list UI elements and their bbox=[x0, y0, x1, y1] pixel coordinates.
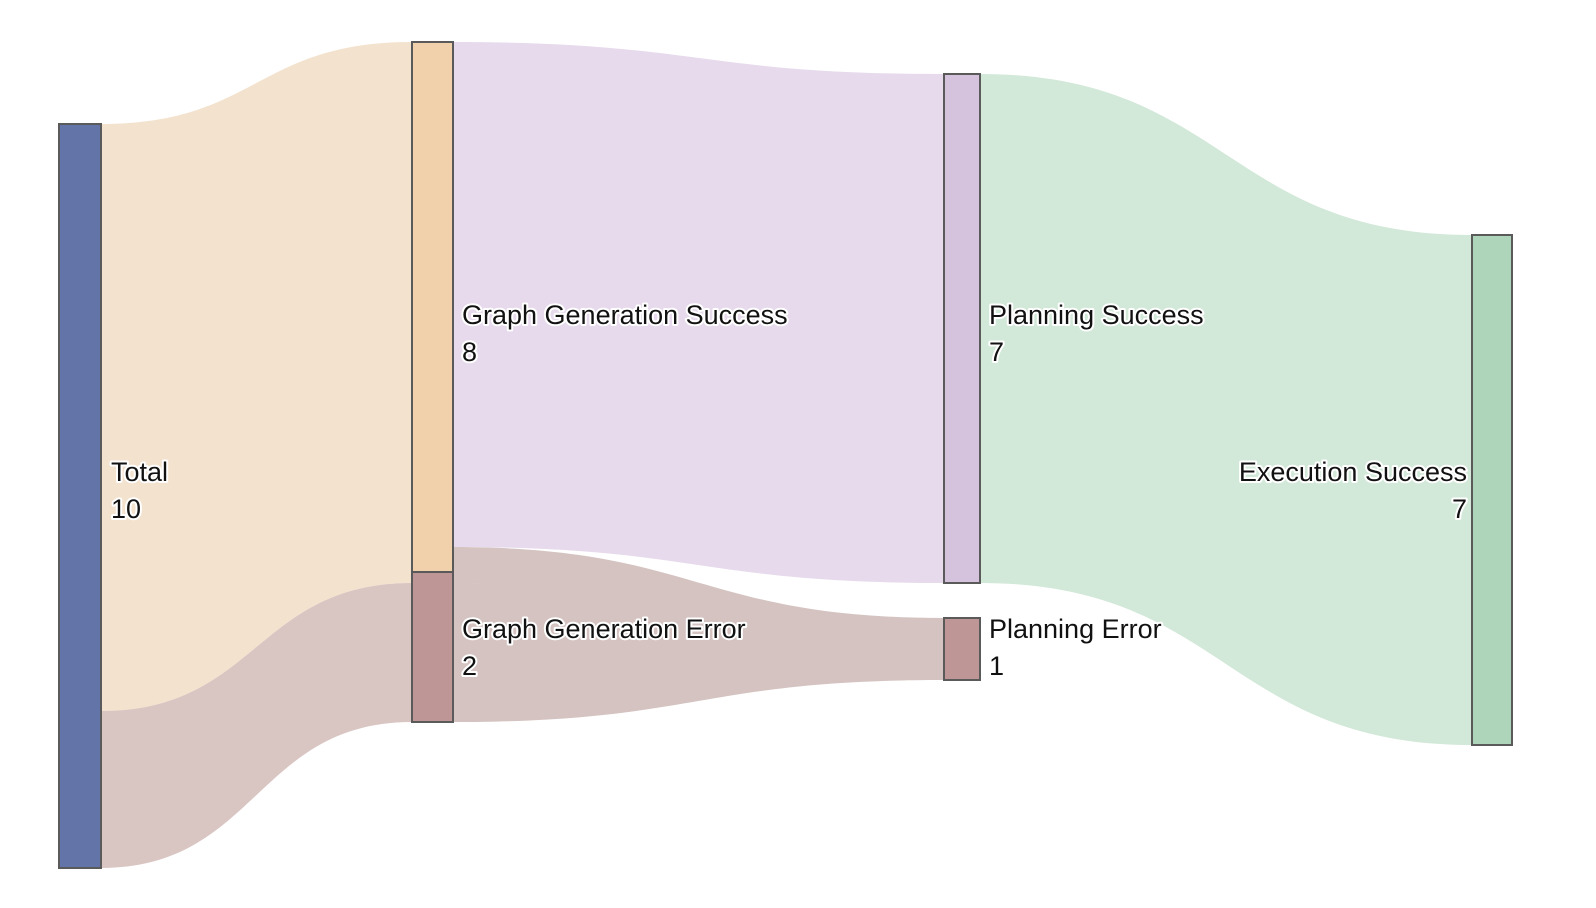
node-label-plan_error: Planning Error bbox=[989, 614, 1162, 644]
node-value-gg_error: 2 bbox=[462, 651, 477, 681]
node-value-exec_success: 7 bbox=[1452, 494, 1467, 524]
node-label-gg_success: Graph Generation Success bbox=[462, 300, 788, 330]
node-value-plan_error: 1 bbox=[989, 651, 1004, 681]
node-value-gg_success: 8 bbox=[462, 337, 477, 367]
links-layer bbox=[101, 42, 1472, 868]
node-label-total: Total bbox=[111, 457, 168, 487]
sankey-node-total[interactable] bbox=[59, 124, 101, 868]
sankey-canvas: Total10Graph Generation Success8Graph Ge… bbox=[0, 0, 1596, 908]
node-value-total: 10 bbox=[111, 494, 141, 524]
sankey-link-plan-success-to-exec-success[interactable] bbox=[980, 74, 1472, 745]
sankey-link-gg-error-to-plan-error[interactable] bbox=[453, 583, 944, 722]
sankey-node-plan_error[interactable] bbox=[944, 618, 980, 680]
sankey-node-plan_success[interactable] bbox=[944, 74, 980, 583]
node-label-plan_success: Planning Success bbox=[989, 300, 1204, 330]
node-value-plan_success: 7 bbox=[989, 337, 1004, 367]
node-label-gg_error: Graph Generation Error bbox=[462, 614, 746, 644]
node-label-exec_success: Execution Success bbox=[1239, 457, 1467, 487]
sankey-node-exec_success[interactable] bbox=[1472, 235, 1512, 745]
sankey-diagram: Total10Graph Generation Success8Graph Ge… bbox=[0, 0, 1596, 908]
sankey-node-gg_error[interactable] bbox=[412, 572, 453, 722]
sankey-node-gg_success[interactable] bbox=[412, 42, 453, 583]
